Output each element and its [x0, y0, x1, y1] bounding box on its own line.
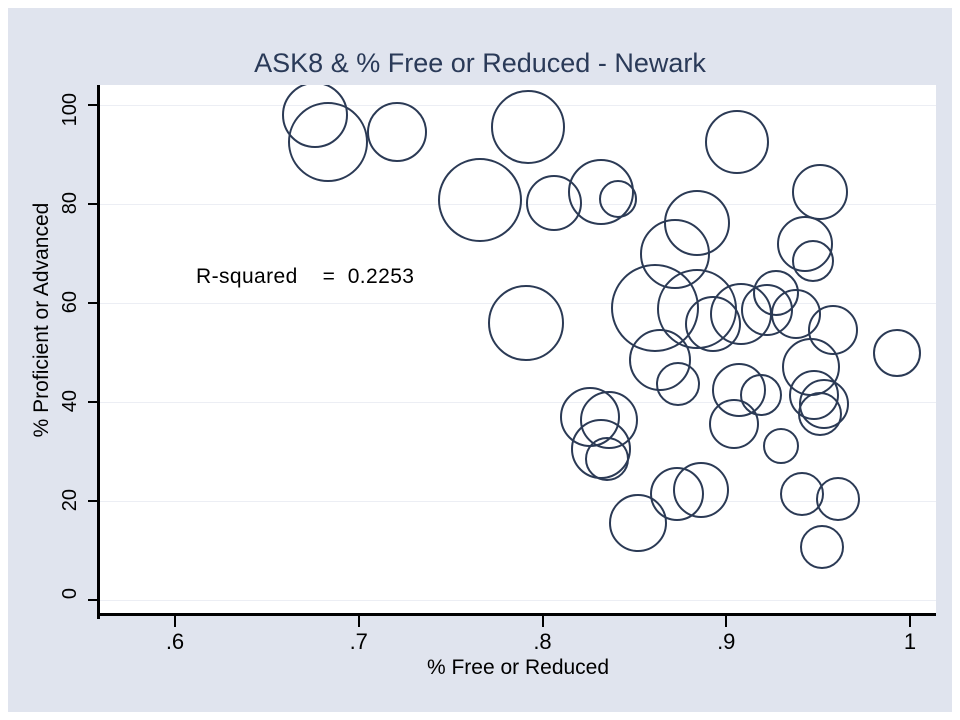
data-point [709, 399, 759, 449]
data-point [438, 158, 522, 242]
x-axis-line [97, 613, 936, 616]
y-tick-40 [88, 401, 98, 403]
data-point [585, 437, 629, 481]
gridline-y-0 [100, 600, 936, 601]
x-tick-.6 [174, 616, 176, 627]
x-tick-label-.8: .8 [513, 629, 573, 655]
data-point [673, 462, 729, 518]
data-point [792, 164, 848, 220]
data-point [656, 362, 700, 406]
x-tick-.9 [725, 616, 727, 627]
x-tick-label-.9: .9 [696, 629, 756, 655]
y-axis-title: % Proficient or Advanced [30, 90, 54, 550]
y-tick-100 [88, 104, 98, 106]
y-tick-label-0: 0 [59, 588, 82, 662]
x-axis-title: % Free or Reduced [100, 656, 936, 680]
data-point [367, 102, 427, 162]
x-tick-.7 [358, 616, 360, 627]
chart-title: ASK8 & % Free or Reduced - Newark [8, 48, 952, 79]
data-point [491, 90, 565, 164]
data-point [609, 494, 667, 552]
data-point [792, 240, 834, 282]
y-tick-label-100: 100 [59, 93, 82, 167]
plot-area [100, 85, 936, 615]
data-point [599, 180, 637, 218]
data-point [288, 102, 368, 182]
y-tick-label-40: 40 [59, 390, 82, 464]
chart-figure: ASK8 & % Free or Reduced - Newark 020406… [8, 8, 952, 712]
x-tick-label-.6: .6 [145, 629, 205, 655]
x-tick-.8 [542, 616, 544, 627]
data-point [873, 329, 921, 377]
y-axis-line [97, 85, 100, 619]
data-point [816, 477, 860, 521]
x-tick-1 [909, 616, 911, 627]
y-tick-0 [88, 599, 98, 601]
x-tick-label-.7: .7 [329, 629, 389, 655]
y-tick-label-20: 20 [59, 489, 82, 563]
y-tick-label-60: 60 [59, 291, 82, 365]
y-tick-60 [88, 302, 98, 304]
y-tick-80 [88, 203, 98, 205]
data-point [800, 525, 844, 569]
data-point [705, 110, 769, 174]
data-point [798, 392, 842, 436]
plot-inner [100, 85, 936, 615]
y-tick-20 [88, 500, 98, 502]
x-tick-label-1: 1 [880, 629, 940, 655]
data-point [763, 428, 799, 464]
data-point [488, 285, 564, 361]
y-tick-label-80: 80 [59, 192, 82, 266]
r-squared-annotation: R-squared = 0.2253 [196, 265, 414, 289]
